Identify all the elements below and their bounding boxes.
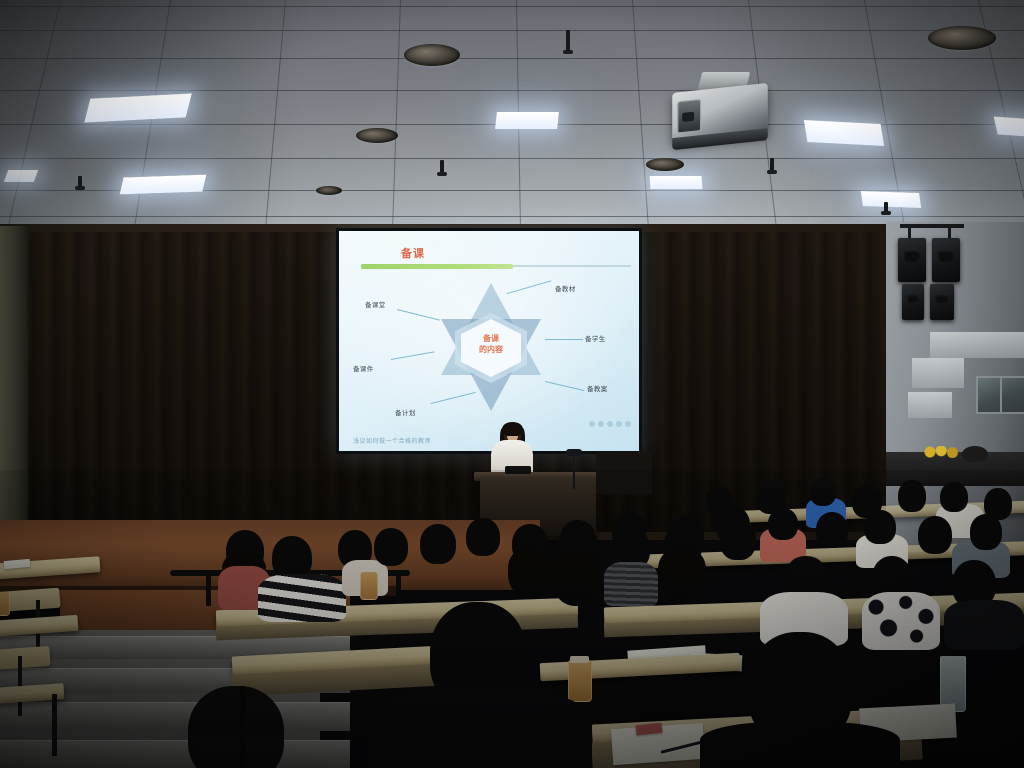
podium-microphone [505, 466, 531, 474]
slide-title: 备课 [401, 245, 425, 261]
diagram-label-beixuesheng: 备学生 [585, 333, 606, 343]
student-body-striped [258, 574, 346, 622]
yellow-flowers [922, 446, 962, 458]
slideshow-prev-icon[interactable] [589, 421, 595, 427]
hexagon-label-line1: 备课 [461, 333, 521, 344]
foreground-student-body [700, 722, 900, 768]
projection-screen: 备课 备课 的内容 备教材 备学生 [339, 231, 639, 451]
bottle-cap [570, 656, 589, 663]
counter-object [962, 446, 988, 462]
hexagon-label-line2: 的内容 [461, 344, 521, 355]
railing-post [396, 572, 401, 606]
diagram-label-beiketang: 备课堂 [365, 299, 386, 309]
student-head [864, 510, 896, 544]
presenter-hair [502, 422, 523, 436]
lecture-hall-photo: 备课 备课 的内容 备教材 备学生 [0, 0, 1024, 768]
hexagon-label: 备课 的内容 [461, 333, 521, 355]
student-head [940, 482, 968, 512]
ceiling-light-panel [861, 191, 921, 208]
student-head [420, 524, 456, 564]
slideshow-pen-icon[interactable] [616, 421, 622, 427]
student-hair [552, 550, 602, 606]
ceiling [0, 0, 1024, 232]
student-body-patterned [862, 592, 940, 650]
student-hair [508, 548, 552, 598]
microphone-stand [573, 455, 575, 489]
sprinkler-head [884, 202, 888, 213]
student-body-dark [944, 600, 1024, 650]
student-head [720, 520, 756, 560]
ceiling-grid-line [0, 6, 1024, 7]
student-head [810, 478, 836, 506]
ceiling-vent [928, 26, 996, 50]
sprinkler-head [440, 160, 444, 174]
ceiling-light-panel [495, 112, 559, 129]
railing-post [206, 572, 211, 606]
wall-ledge [908, 392, 952, 418]
ceiling-light-panel [4, 170, 38, 182]
projection-screen-frame: 备课 备课 的内容 备教材 备学生 [336, 228, 642, 454]
student-head [466, 518, 500, 556]
slide-accent-bar-tail [513, 265, 631, 267]
ceiling-light-panel [650, 176, 703, 189]
student-head [768, 508, 798, 540]
microphone-head [566, 449, 582, 456]
control-booth-window [976, 376, 1024, 414]
ceiling-grid-line [0, 58, 1024, 59]
water-bottle [0, 592, 10, 616]
hanging-speaker [932, 238, 960, 282]
sprinkler-head [770, 158, 774, 172]
ceiling-grid-line [0, 90, 1024, 91]
slideshow-controls[interactable] [589, 421, 631, 427]
ceiling-vent [646, 158, 684, 171]
desk-leg [52, 694, 57, 756]
sprinkler-head [78, 176, 82, 188]
ceiling-vent [316, 186, 342, 195]
diagram-label-beikejian: 备课件 [353, 363, 374, 373]
projector-icon [672, 83, 767, 143]
wall-ledge [912, 358, 964, 388]
projector-lens [677, 99, 701, 134]
ceiling-vent [404, 44, 460, 66]
slideshow-menu-icon[interactable] [607, 421, 613, 427]
hexagram-diagram: 备课 的内容 [423, 279, 559, 419]
diagram-label-beijihua: 备计划 [395, 407, 416, 417]
left-wall-column [0, 226, 28, 546]
diagram-label-beijiaocai: 备教材 [555, 283, 576, 293]
student-head [816, 512, 848, 548]
diagram-label-beijiaoan: 备教案 [587, 383, 608, 393]
stage-equipment [596, 452, 652, 494]
slide-accent-bar [361, 264, 513, 269]
slideshow-pointer-icon[interactable] [598, 421, 604, 427]
hanging-speaker [930, 284, 954, 320]
foreground-student-body [368, 688, 592, 768]
ceiling-vent [356, 128, 398, 143]
ceiling-grid-line [0, 216, 1024, 217]
student-hair [658, 548, 706, 600]
student-head [374, 528, 408, 566]
ceiling-light-panel [804, 120, 884, 146]
water-bottle [568, 660, 592, 702]
student-body-pinstripe [604, 562, 658, 606]
slide-footer: 浅议如何做一个合格的教师 [353, 436, 431, 445]
slideshow-next-icon[interactable] [625, 421, 631, 427]
student-head [898, 480, 926, 512]
ceiling-light-panel [120, 175, 207, 195]
water-bottle [360, 572, 378, 600]
foreground-student-head [188, 686, 284, 768]
student-head [970, 514, 1002, 550]
hanging-speaker [898, 238, 926, 282]
hanging-speaker [902, 284, 924, 320]
ceiling-light-panel [994, 116, 1024, 137]
sprinkler-head [566, 30, 570, 52]
student-head [918, 516, 952, 554]
wall-ledge [930, 332, 1024, 358]
ceiling-grid-line [0, 158, 1024, 159]
leader-line [545, 339, 583, 340]
